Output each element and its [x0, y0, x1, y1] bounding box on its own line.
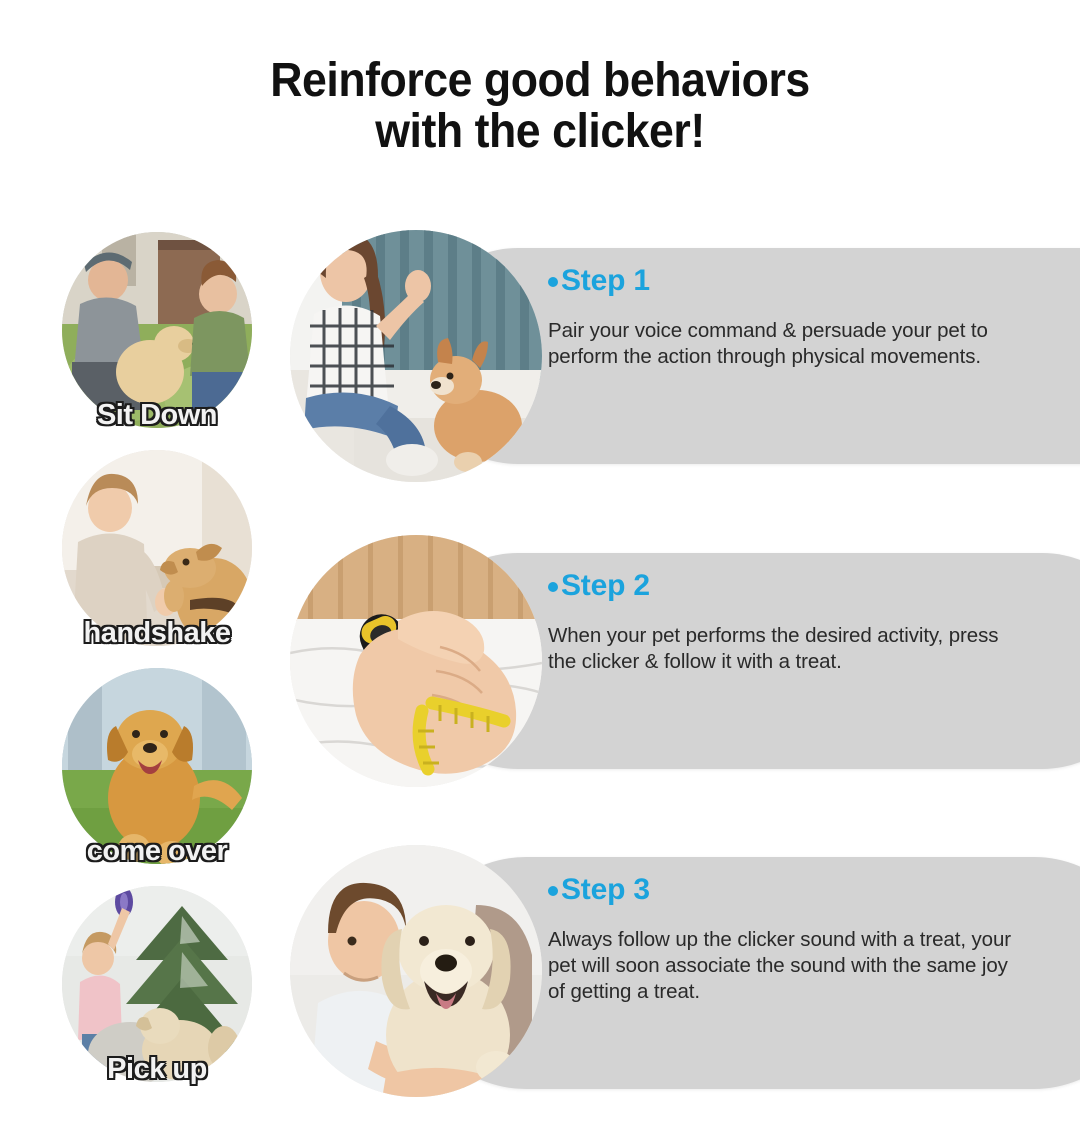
- step-card-3: Step 3 Always follow up the clicker soun…: [290, 845, 1030, 1097]
- step-1-photo: [290, 230, 542, 482]
- step-2-label: Step 2: [548, 571, 1018, 601]
- page-title: Reinforce good behaviors with the clicke…: [0, 56, 1080, 158]
- bullet-dot-icon: [548, 277, 558, 287]
- trick-thumbnail-pick-up[interactable]: Pick up: [62, 886, 252, 1086]
- step-1-label: Step 1: [548, 266, 1018, 296]
- trick-caption: come over: [62, 835, 252, 868]
- infographic-page: Reinforce good behaviors with the clicke…: [0, 0, 1080, 1130]
- trick-caption: handshake: [62, 617, 252, 650]
- step-3-body: Always follow up the clicker sound with …: [548, 927, 1028, 1004]
- step-1-body: Pair your voice command & persuade your …: [548, 318, 1018, 370]
- bullet-dot-icon: [548, 886, 558, 896]
- step-card-2: Step 2 When your pet performs the desire…: [290, 535, 1030, 787]
- step-3-label-text: Step 3: [561, 873, 650, 906]
- step-2-label-text: Step 2: [561, 569, 650, 602]
- step-2-copy: Step 2 When your pet performs the desire…: [548, 571, 1018, 675]
- step-1-label-text: Step 1: [561, 264, 650, 297]
- step-3-copy: Step 3 Always follow up the clicker soun…: [548, 875, 1028, 1004]
- step-3-label: Step 3: [548, 875, 1028, 905]
- trick-thumbnail-come-over[interactable]: come over: [62, 668, 252, 868]
- bullet-dot-icon: [548, 582, 558, 592]
- step-card-1: Step 1 Pair your voice command & persuad…: [290, 230, 1030, 482]
- trick-caption: Pick up: [62, 1053, 252, 1086]
- trick-caption: Sit Down: [62, 399, 252, 432]
- step-3-photo: [290, 845, 542, 1097]
- trick-thumbnail-sit-down[interactable]: Sit Down: [62, 232, 252, 432]
- step-1-copy: Step 1 Pair your voice command & persuad…: [548, 266, 1018, 370]
- step-2-photo: [290, 535, 542, 787]
- trick-thumbnail-handshake[interactable]: handshake: [62, 450, 252, 650]
- trick-thumbnail-rail: Sit Down: [62, 232, 258, 1104]
- title-line-1: Reinforce good behaviors: [38, 56, 1042, 107]
- step-2-body: When your pet performs the desired activ…: [548, 623, 1018, 675]
- title-line-2: with the clicker!: [38, 107, 1042, 158]
